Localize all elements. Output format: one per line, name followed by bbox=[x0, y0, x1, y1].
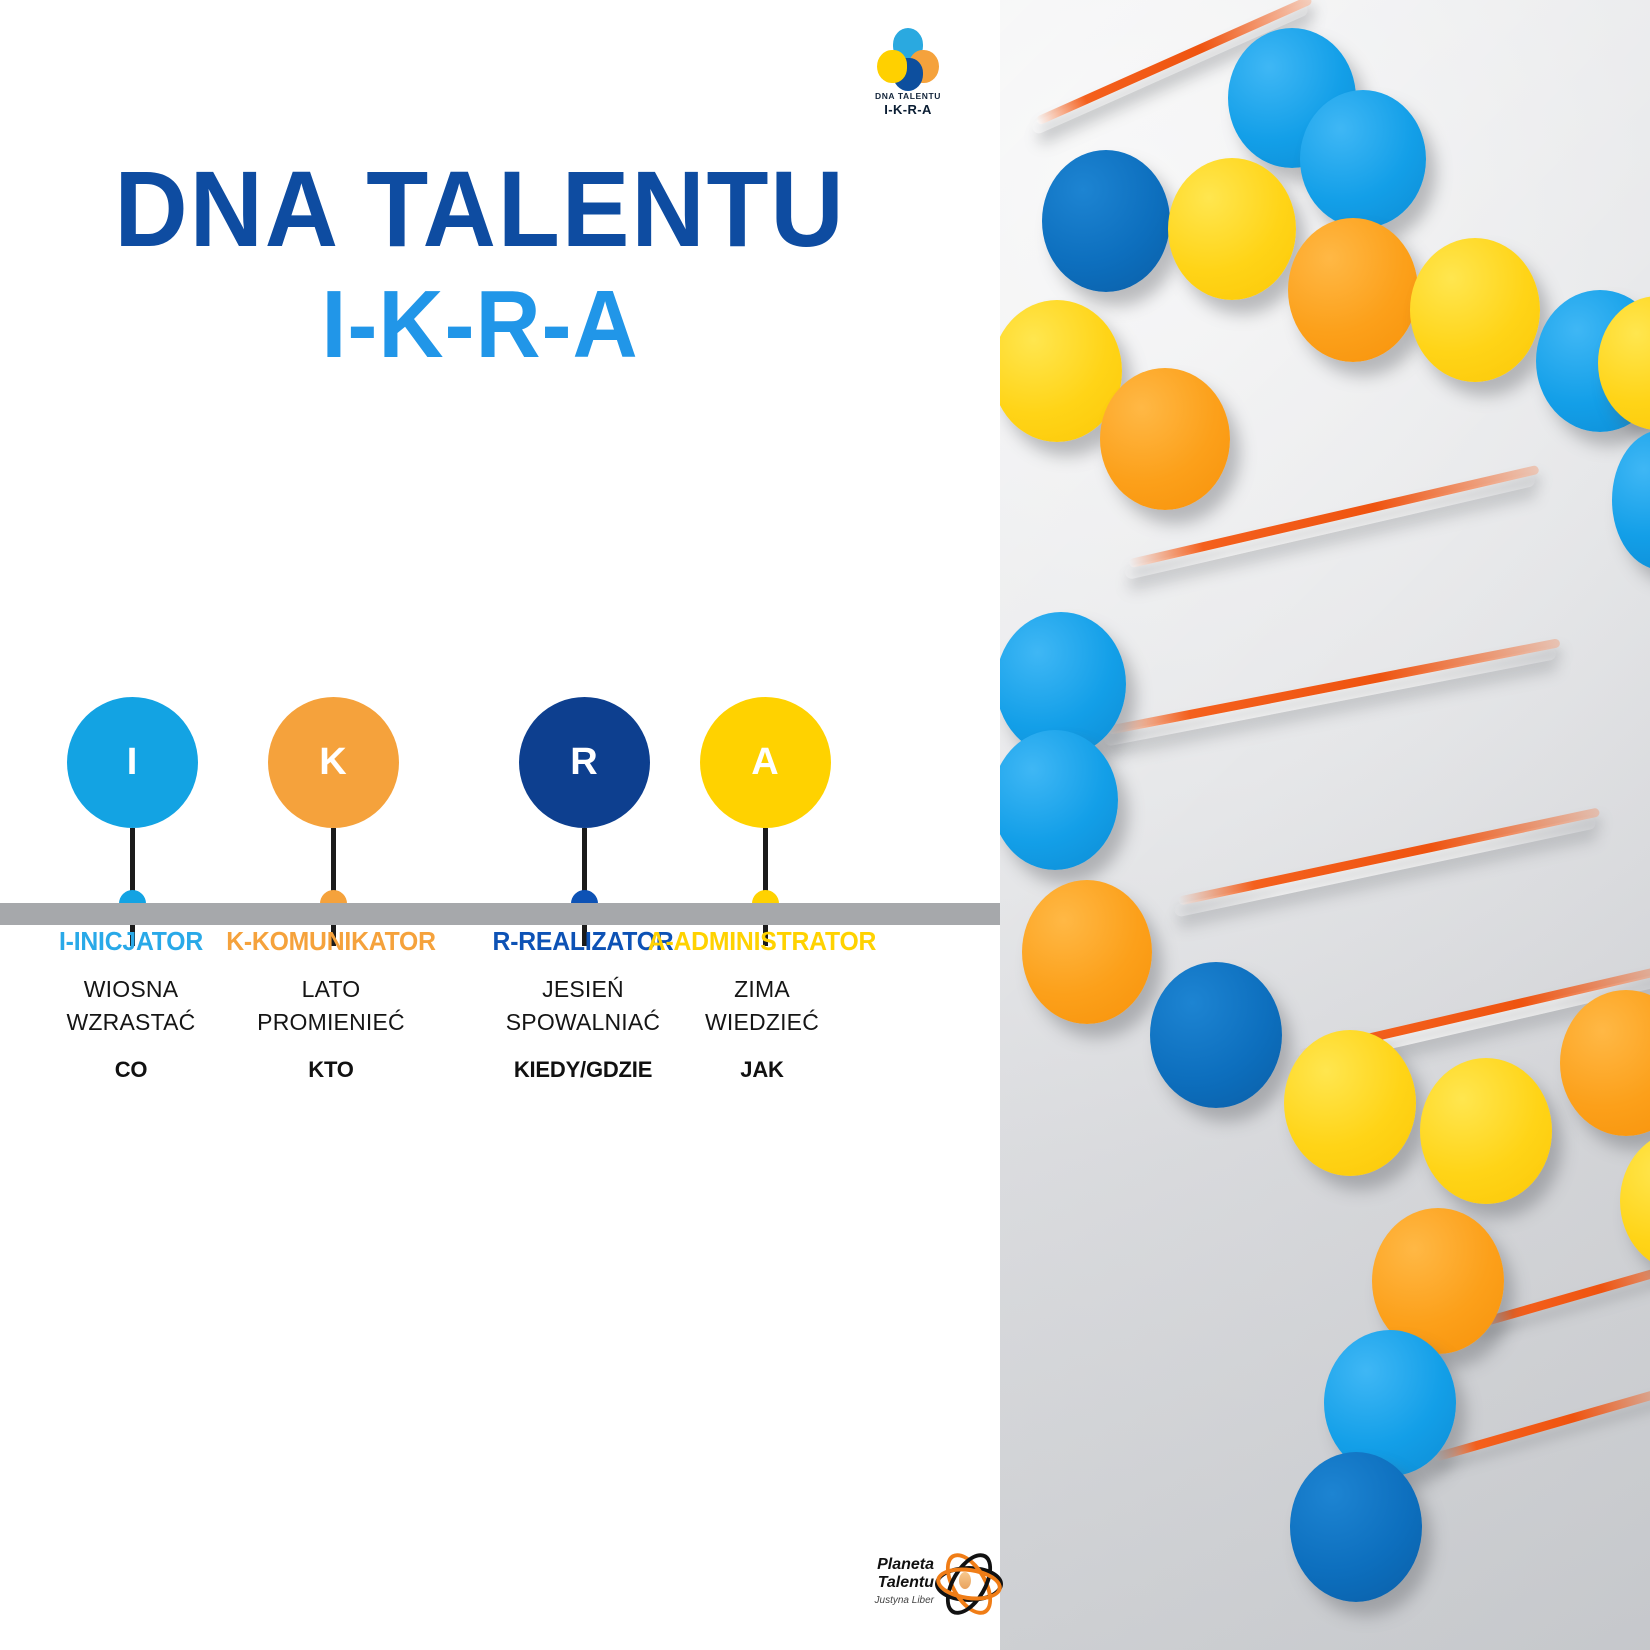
node-a[interactable]: A bbox=[700, 697, 831, 828]
role-label-a: A-ADMINISTRATOR bbox=[635, 928, 889, 957]
photo-bead bbox=[1168, 158, 1296, 300]
verb-label-k: PROMIENIEĆ bbox=[200, 1006, 462, 1039]
header-logo-line1: DNA TALENTU bbox=[872, 91, 944, 101]
photo-bead bbox=[1410, 238, 1540, 382]
footer-logo-line2: Talentu bbox=[848, 1574, 934, 1592]
header-brand-logo: DNA TALENTU I-K-R-A bbox=[872, 28, 944, 116]
poster-canvas: DNA TALENTU I-K-R-A DNA TALENTU I-K-R-A … bbox=[0, 0, 1650, 1650]
column-a: A-ADMINISTRATOR ZIMA WIEDZIEĆ JAK bbox=[631, 928, 893, 1083]
season-label-a: ZIMA bbox=[631, 973, 893, 1006]
node-i-letter: I bbox=[127, 741, 139, 784]
node-k-letter: K bbox=[319, 741, 347, 784]
node-r-letter: R bbox=[570, 741, 598, 784]
question-label-a: JAK bbox=[631, 1057, 893, 1083]
photo-bead bbox=[1300, 90, 1426, 228]
column-k: K-KOMUNIKATOR LATO PROMIENIEĆ KTO bbox=[200, 928, 462, 1083]
photo-bead bbox=[1042, 150, 1170, 292]
atom-icon bbox=[932, 1548, 998, 1614]
node-row: I K R A bbox=[0, 697, 1000, 837]
content-panel: DNA TALENTU I-K-R-A DNA TALENTU I-K-R-A … bbox=[0, 0, 1000, 1650]
footer-logo-text: Planeta Talentu Justyna Liber bbox=[848, 1556, 934, 1606]
photo-bead bbox=[1150, 962, 1282, 1108]
ground-bar bbox=[0, 903, 1000, 925]
header-logo-line2: I-K-R-A bbox=[872, 102, 944, 117]
footer-logo-line1: Planeta bbox=[848, 1556, 934, 1574]
flower-icon bbox=[875, 28, 941, 90]
footer-logo-line3: Justyna Liber bbox=[848, 1595, 934, 1606]
photo-bead bbox=[1022, 880, 1152, 1024]
verb-label-a: WIEDZIEĆ bbox=[631, 1006, 893, 1039]
page-title: DNA TALENTU I-K-R-A bbox=[0, 155, 960, 377]
role-label-k: K-KOMUNIKATOR bbox=[204, 928, 458, 957]
node-a-letter: A bbox=[751, 741, 779, 784]
season-label-k: LATO bbox=[200, 973, 462, 1006]
footer-brand-logo: Planeta Talentu Justyna Liber bbox=[848, 1548, 998, 1626]
node-i[interactable]: I bbox=[67, 697, 198, 828]
photo-bead bbox=[1290, 1452, 1422, 1602]
node-r[interactable]: R bbox=[519, 697, 650, 828]
node-k[interactable]: K bbox=[268, 697, 399, 828]
title-main: DNA TALENTU bbox=[29, 155, 931, 263]
dna-beads-photo bbox=[1000, 0, 1650, 1650]
photo-bead bbox=[1420, 1058, 1552, 1204]
photo-bead bbox=[1288, 218, 1418, 362]
photo-bead bbox=[1100, 368, 1230, 510]
question-label-k: KTO bbox=[200, 1057, 462, 1083]
photo-bead bbox=[1284, 1030, 1416, 1176]
atom-nucleus-icon bbox=[959, 1572, 971, 1589]
title-sub: I-K-R-A bbox=[29, 273, 931, 377]
petal-left-icon bbox=[877, 50, 907, 83]
